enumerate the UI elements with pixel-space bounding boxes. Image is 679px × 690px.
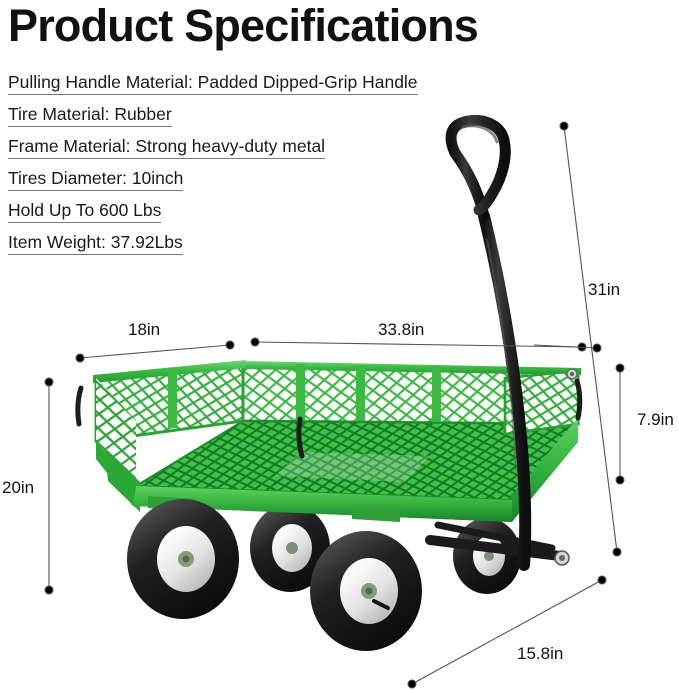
dimension-label-20in: 20in — [2, 478, 34, 498]
product-image-garden-cart — [0, 0, 679, 690]
wheel-front-near — [310, 531, 422, 651]
dimension-label-33-8in: 33.8in — [378, 320, 424, 340]
dimension-label-31in: 31in — [588, 280, 620, 300]
dimension-label-15-8in: 15.8in — [517, 644, 563, 664]
wheel-rear-near — [127, 499, 239, 619]
dimension-label-7-9in: 7.9in — [637, 410, 674, 430]
dimension-label-18in: 18in — [128, 320, 160, 340]
product-specification-page: Product Specifications Pulling Handle Ma… — [0, 0, 679, 690]
